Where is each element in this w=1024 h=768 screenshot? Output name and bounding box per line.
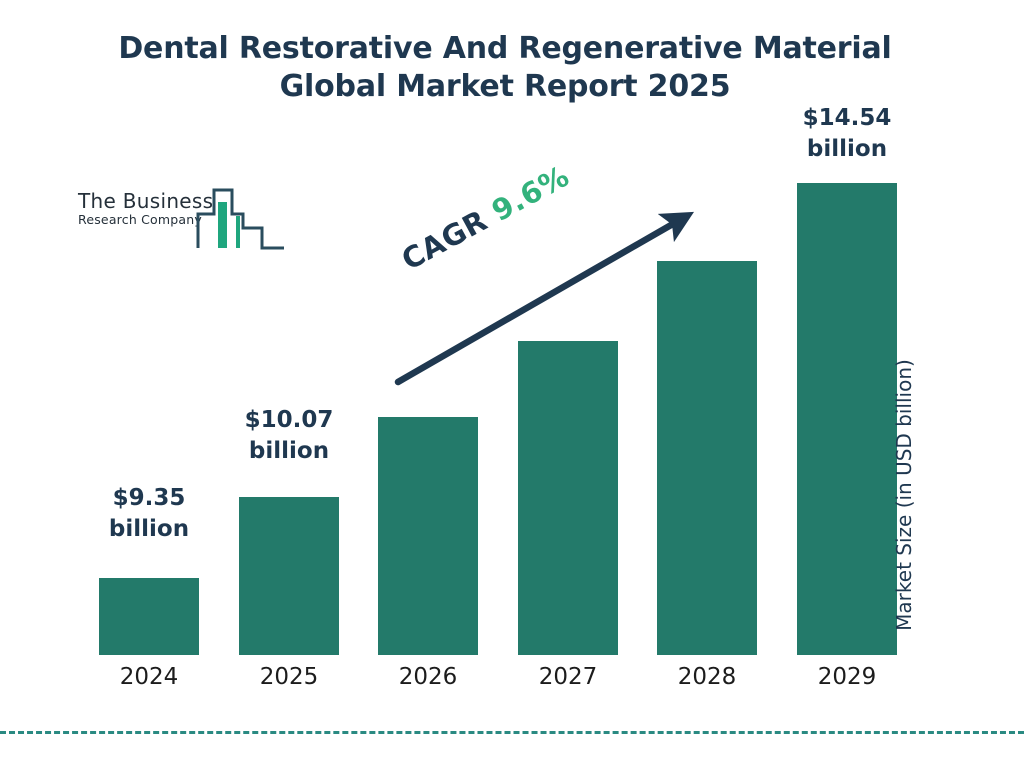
x-tick-2027: 2027 xyxy=(498,662,638,692)
cagr-trend-arrow-icon xyxy=(380,190,720,400)
bar-unit-2024: billion xyxy=(79,514,219,545)
bar-2024 xyxy=(99,578,199,655)
x-tick-2026: 2026 xyxy=(358,662,498,692)
x-tick-2028: 2028 xyxy=(637,662,777,692)
bar-unit-2025: billion xyxy=(219,436,359,467)
footer-divider xyxy=(0,731,1024,734)
bar-value-2025: $10.07 xyxy=(219,405,359,436)
chart-page: Dental Restorative And Regenerative Mate… xyxy=(0,0,1024,768)
bar-value-2029: $14.54 xyxy=(777,103,917,134)
x-tick-2024: 2024 xyxy=(79,662,219,692)
x-tick-2029: 2029 xyxy=(777,662,917,692)
bar-2025 xyxy=(239,497,339,655)
bar-chart-plot-area: $9.35 billion $10.07 billion $14.54 bill… xyxy=(0,0,1024,768)
bar-2029 xyxy=(797,183,897,655)
bar-value-2024: $9.35 xyxy=(79,483,219,514)
y-axis-title: Market Size (in USD billion) xyxy=(892,330,916,660)
bar-value-label-2024: $9.35 billion xyxy=(79,483,219,545)
bar-unit-2029: billion xyxy=(777,134,917,165)
bar-value-label-2025: $10.07 billion xyxy=(219,405,359,467)
bar-2026 xyxy=(378,417,478,655)
bar-value-label-2029: $14.54 billion xyxy=(777,103,917,165)
x-tick-2025: 2025 xyxy=(219,662,359,692)
